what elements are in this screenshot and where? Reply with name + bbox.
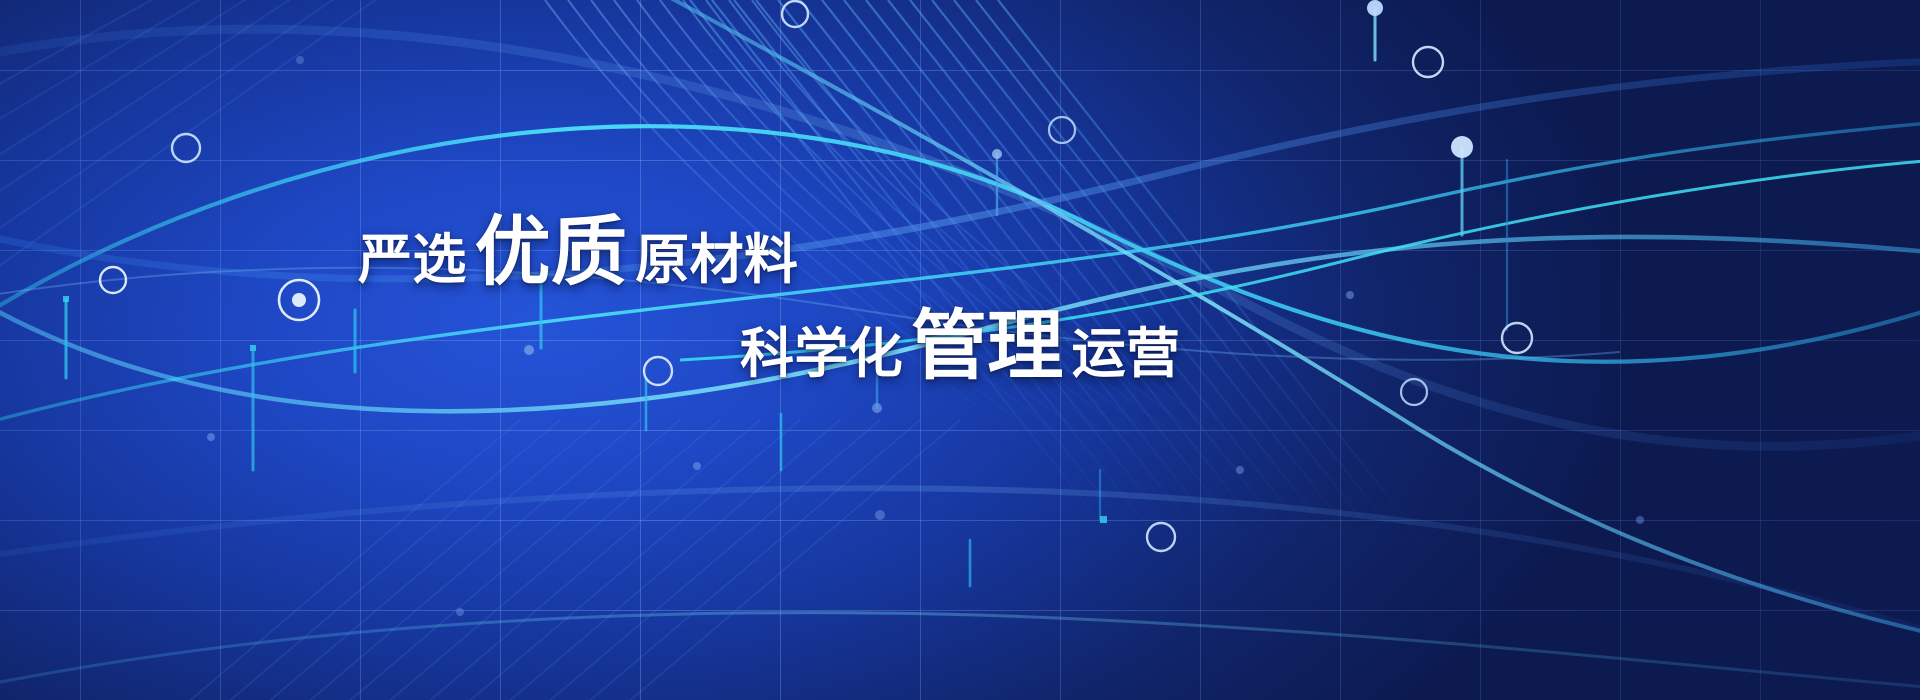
ring-with-core-icon [279, 280, 319, 320]
filled-dot-group [207, 0, 1644, 616]
pin-line-group [66, 8, 1507, 586]
decor-layer [0, 0, 1920, 700]
hollow-circle-group [100, 1, 1532, 551]
tick-square-group [63, 296, 1107, 523]
hero-banner: 严选优质原材料 科学化管理运营 [0, 0, 1920, 700]
